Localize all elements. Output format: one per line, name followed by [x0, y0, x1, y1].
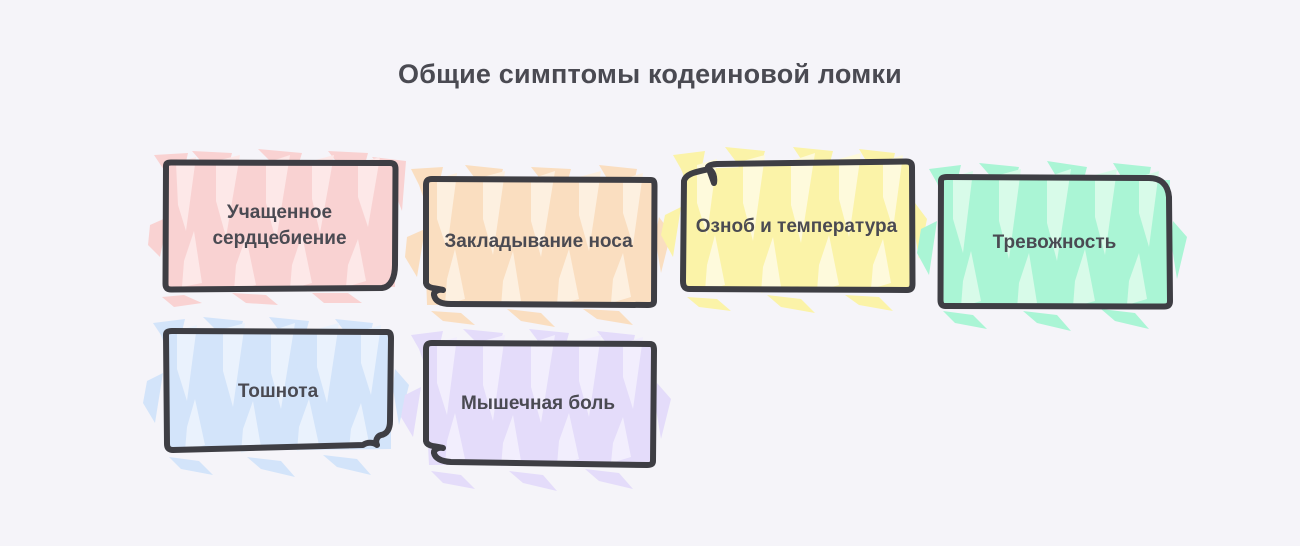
symptom-card[interactable]: Тревожность — [937, 175, 1172, 310]
card-texture — [143, 317, 409, 477]
card-shape — [937, 175, 1172, 310]
card-shape — [421, 177, 656, 307]
page-title: Общие симптомы кодеиновой ломки — [0, 58, 1300, 90]
symptom-card[interactable]: Учащенное сердцебиение — [162, 161, 397, 291]
card-shape — [163, 329, 393, 454]
card-shape — [421, 341, 655, 466]
symptom-card[interactable]: Мышечная боль — [421, 341, 655, 466]
infographic-canvas: Общие симптомы кодеиновой ломки — [0, 0, 1300, 546]
symptom-card[interactable]: Закладывание носа — [421, 177, 656, 307]
card-shape — [162, 161, 397, 291]
card-texture — [148, 149, 406, 307]
card-shape — [679, 159, 914, 294]
symptom-card[interactable]: Озноб и температура — [679, 159, 914, 294]
symptom-card[interactable]: Тошнота — [163, 329, 393, 454]
